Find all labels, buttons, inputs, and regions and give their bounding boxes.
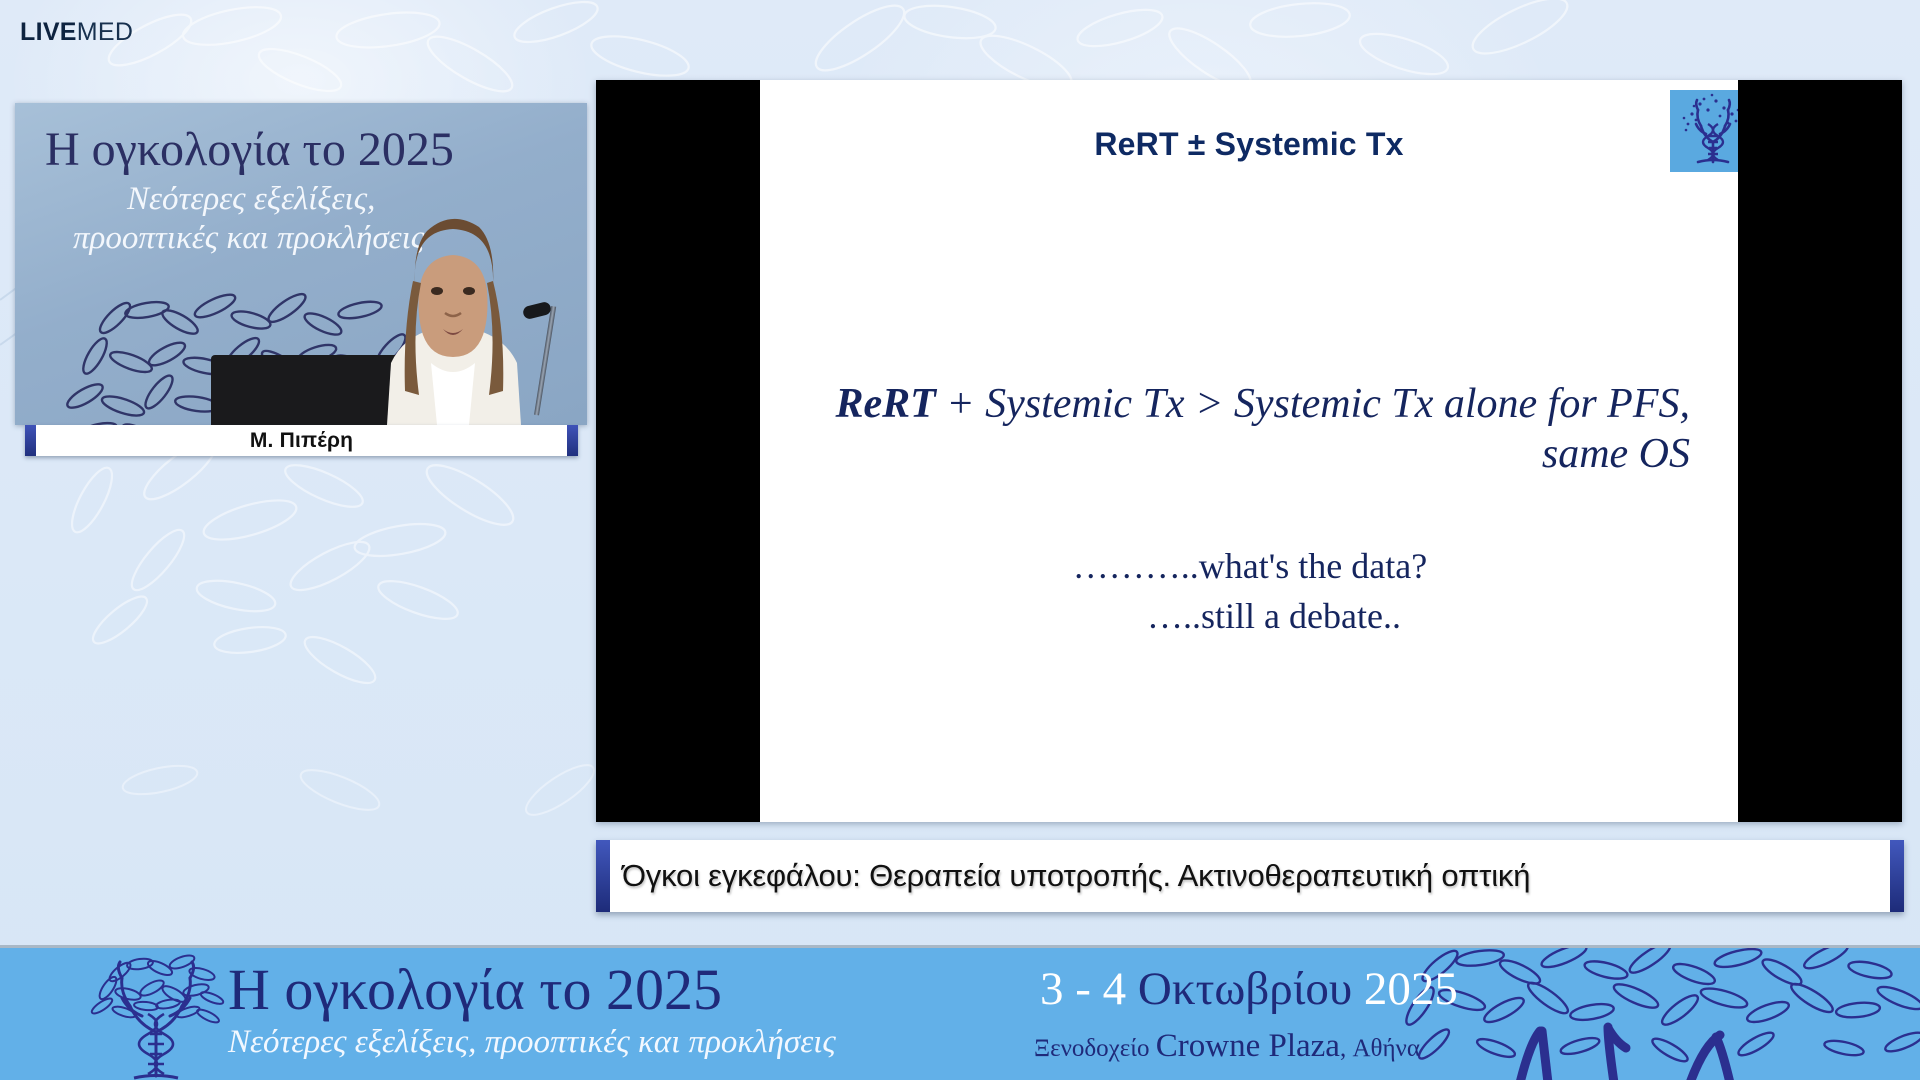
backdrop-title: Η ογκολογία το 2025: [45, 125, 565, 175]
speaker-name: Μ. Πιπέρη: [36, 425, 567, 456]
name-bar-right-accent: [567, 425, 578, 456]
venue-prefix: Ξενοδοχείο: [1034, 1035, 1156, 1062]
slide-content: ReRT ± Systemic Tx: [760, 80, 1738, 822]
date-range: 3 - 4: [1040, 963, 1138, 1015]
backdrop-subtitle-line1: Νεότερες εξελίξεις,: [127, 181, 375, 218]
banner-leaf-decoration: [1400, 948, 1920, 1080]
slide-title: ReRT ± Systemic Tx: [760, 126, 1738, 163]
session-bar-right-accent: [1890, 840, 1904, 912]
conference-banner: Η ογκολογία το 2025 Νεότερες εξελίξεις, …: [0, 945, 1920, 1080]
logo-live-text: LIVE: [20, 18, 77, 46]
session-title-bar: Όγκοι εγκεφάλου: Θεραπεία υποτροπής. Ακτ…: [596, 840, 1904, 912]
venue-name: Crowne Plaza: [1156, 1028, 1340, 1064]
logo-med-text: MED: [77, 18, 133, 46]
speaker-video-tile[interactable]: Η ογκολογία το 2025 Νεότερες εξελίξεις, …: [15, 103, 587, 425]
venue-city: , Αθήνα: [1340, 1035, 1420, 1062]
speaker-person: [365, 195, 541, 425]
statement-lead: ReRT: [835, 381, 946, 427]
speaker-video[interactable]: Η ογκολογία το 2025 Νεότερες εξελίξεις, …: [15, 103, 587, 425]
banner-dna-tree-logo: [68, 954, 243, 1080]
banner-subtitle: Νεότερες εξελίξεις, προοπτικές και προκλ…: [228, 1024, 836, 1061]
banner-venue: Ξενοδοχείο Crowne Plaza, Αθήνα: [1034, 1028, 1420, 1065]
name-bar-left-accent: [25, 425, 36, 456]
slide-statement: ReRT + Systemic Tx > Systemic Tx alone f…: [808, 380, 1690, 479]
banner-dates: 3 - 4 Οκτωβρίου 2025: [1040, 962, 1458, 1016]
slide-video-frame[interactable]: ReRT ± Systemic Tx: [596, 80, 1902, 822]
app-header: LIVEMED: [0, 0, 1920, 66]
livemed-logo: LIVEMED: [20, 20, 133, 45]
date-month: Οκτωβρίου: [1138, 963, 1364, 1015]
slide-debate-line: …..still a debate..: [820, 595, 1680, 637]
date-year: 2025: [1364, 963, 1458, 1015]
dna-tree-logo-icon: [1670, 90, 1738, 172]
statement-rest: + Systemic Tx > Systemic Tx alone for PF…: [946, 381, 1690, 477]
speaker-name-bar: Μ. Πιπέρη: [25, 425, 578, 456]
session-title: Όγκοι εγκεφάλου: Θεραπεία υποτροπής. Ακτ…: [610, 840, 1890, 912]
slide-question-line: ………..what's the data?: [820, 545, 1680, 587]
session-bar-left-accent: [596, 840, 610, 912]
banner-title: Η ογκολογία το 2025: [228, 956, 722, 1023]
